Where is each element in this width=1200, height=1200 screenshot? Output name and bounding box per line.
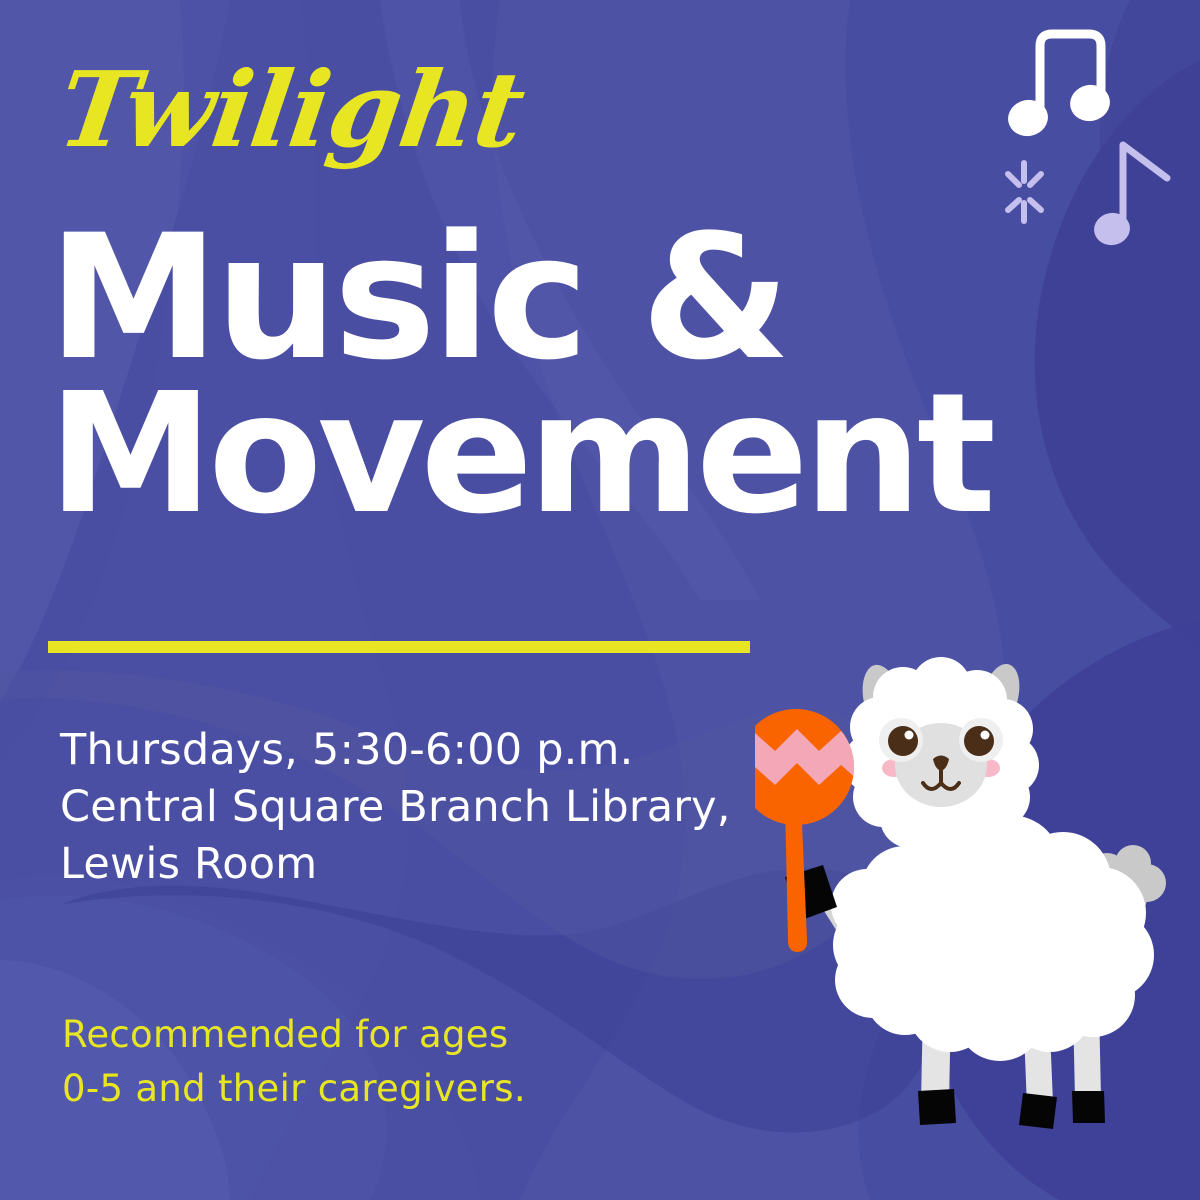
yellow-divider [48, 641, 750, 653]
detail-line-room: Lewis Room [60, 836, 731, 893]
poster-content: Twilight Music & Movement Thursdays, 5:3… [0, 0, 1200, 1200]
age-line-2: 0-5 and their caregivers. [62, 1062, 526, 1116]
main-title-line-2: Movement [48, 378, 1148, 532]
page-title: Music & Movement [48, 218, 1148, 532]
detail-line-time: Thursdays, 5:30-6:00 p.m. [60, 722, 731, 779]
script-title: Twilight [53, 58, 530, 162]
detail-line-location: Central Square Branch Library, [60, 779, 731, 836]
main-title-line-1: Music & [48, 218, 1148, 378]
age-recommendation: Recommended for ages 0-5 and their careg… [62, 1008, 526, 1115]
event-details: Thursdays, 5:30-6:00 p.m. Central Square… [60, 722, 731, 892]
age-line-1: Recommended for ages [62, 1008, 526, 1062]
poster-canvas: Twilight Music & Movement Thursdays, 5:3… [0, 0, 1200, 1200]
